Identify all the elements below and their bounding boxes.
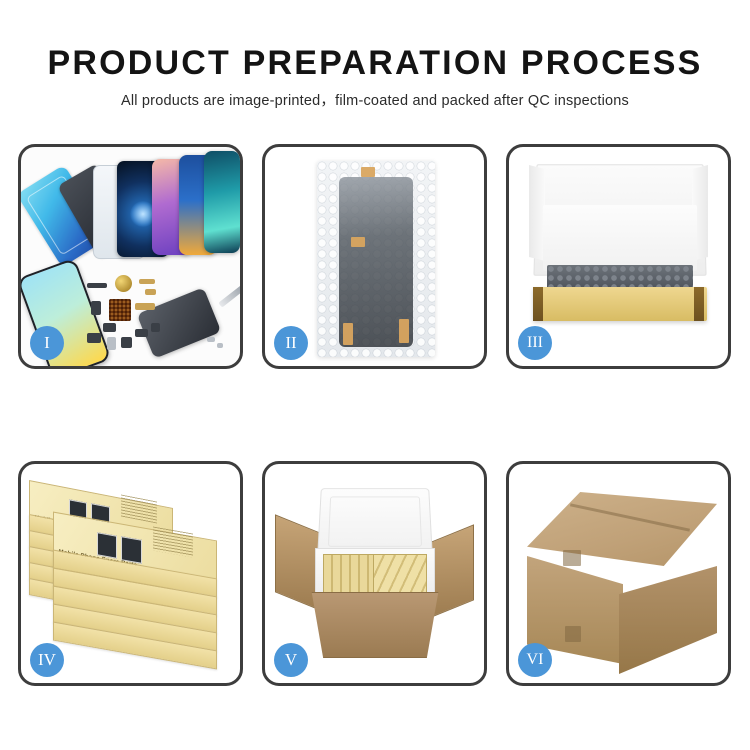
- step-badge-4: IV: [30, 643, 64, 677]
- carton-packing-panel[interactable]: V: [262, 461, 487, 686]
- process-panel-grid: I II: [18, 144, 732, 706]
- speaker-mesh-icon: [115, 275, 132, 292]
- tweezer-icon: [218, 284, 240, 307]
- carton-front-icon: [303, 592, 447, 658]
- phone-teal-icon: [204, 151, 240, 253]
- phone-parts-panel[interactable]: I: [18, 144, 243, 369]
- step-badge-2: II: [274, 326, 308, 360]
- kraft-box-base-icon: [533, 287, 707, 321]
- part-bit: [87, 333, 101, 343]
- chip-grid-icon: [109, 299, 131, 321]
- part-bit: [135, 303, 155, 310]
- box-label-thumb: [97, 532, 117, 559]
- bubble-wrap-panel[interactable]: II: [262, 144, 487, 369]
- tape-piece: [351, 237, 365, 247]
- tape-piece: [399, 319, 409, 343]
- carton-right-face: [619, 566, 717, 674]
- open-kraft-box-panel[interactable]: III: [506, 144, 731, 369]
- carton-tab: [565, 626, 581, 642]
- part-bit: [107, 337, 116, 350]
- step-badge-5: V: [274, 643, 308, 677]
- carton-tab: [563, 550, 581, 566]
- tape-piece: [361, 167, 375, 177]
- page-root: PRODUCT PREPARATION PROCESS All products…: [0, 0, 750, 750]
- part-bit: [121, 337, 132, 348]
- phone-back-housing-icon: [137, 287, 222, 358]
- kraft-box-side-right: [694, 287, 704, 321]
- step-badge-1: I: [30, 326, 64, 360]
- part-bit: [135, 329, 148, 337]
- part-bit: [217, 343, 223, 348]
- part-bit: [139, 279, 155, 284]
- bubble-bag-icon: [317, 161, 435, 357]
- foam-sheet-icon: [543, 205, 697, 271]
- page-subtitle: All products are image-printed，film-coat…: [0, 92, 750, 110]
- part-bit: [87, 283, 107, 288]
- kraft-box-side-left: [533, 287, 543, 321]
- sealed-carton-panel[interactable]: VI: [506, 461, 731, 686]
- step-badge-3: III: [518, 326, 552, 360]
- part-bit: [151, 323, 160, 332]
- part-bit: [207, 337, 215, 342]
- box-stack-panel[interactable]: Mobile Phone Spare Parts Mobile Phone Sp…: [18, 461, 243, 686]
- part-bit: [145, 289, 156, 295]
- part-bit: [103, 323, 116, 332]
- page-title: PRODUCT PREPARATION PROCESS: [0, 44, 750, 82]
- inner-boxes-right: [373, 554, 427, 594]
- part-bit: [91, 301, 101, 315]
- box-label-thumb: [121, 536, 142, 564]
- header: PRODUCT PREPARATION PROCESS All products…: [0, 0, 750, 110]
- tape-piece: [343, 323, 353, 345]
- step-badge-6: VI: [518, 643, 552, 677]
